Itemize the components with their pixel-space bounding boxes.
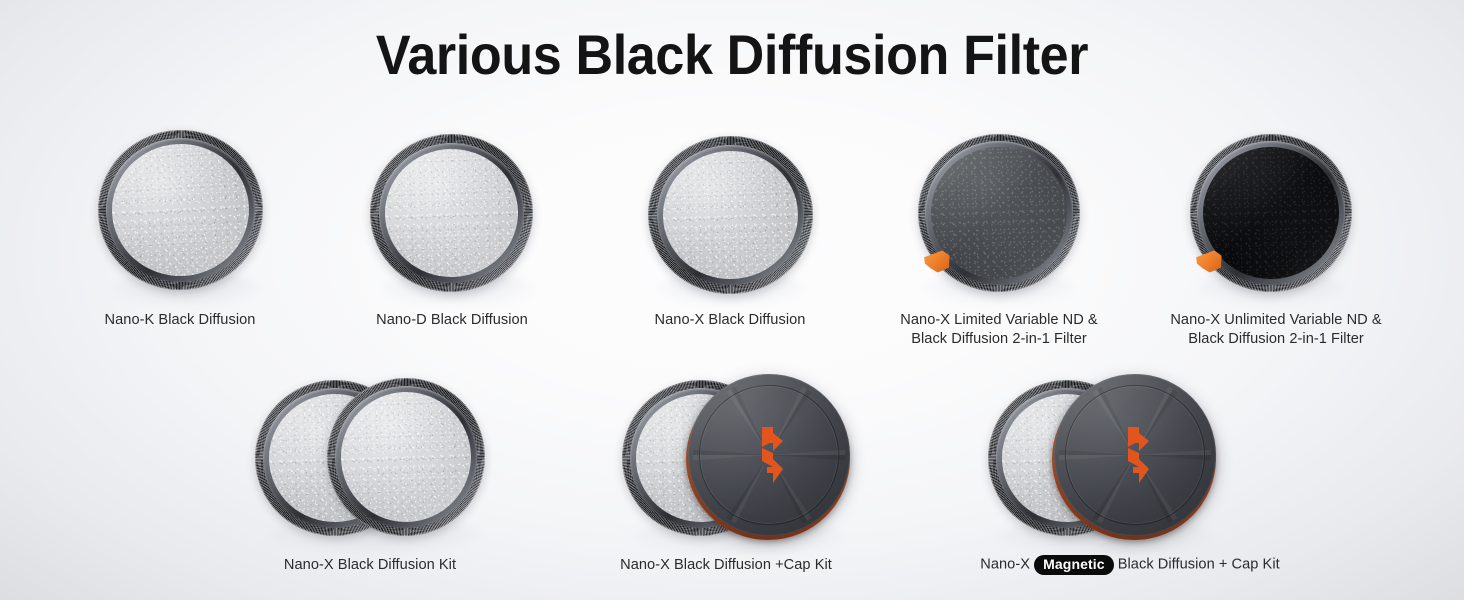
- product-label-nano-x-kit: Nano-X Black Diffusion Kit: [245, 556, 495, 575]
- label-suffix: Black Diffusion + Cap Kit: [1114, 557, 1280, 573]
- product-nano-k-black-diffusion[interactable]: [94, 126, 267, 294]
- kf-logo: [1115, 427, 1155, 483]
- magnetic-badge: Magnetic: [1034, 555, 1113, 575]
- lens-cap[interactable]: [1054, 374, 1216, 536]
- product-label-limited-nd-line1: Nano-X Limited Variable ND &: [862, 311, 1136, 330]
- row2-labels: Nano-X Black Diffusion Kit Nano-X Black …: [0, 556, 1464, 584]
- product-label-nano-x-magnetic-cap-kit: Nano-X Magnetic Black Diffusion + Cap Ki…: [940, 554, 1320, 575]
- product-nano-x-black-diffusion-cap-kit[interactable]: [622, 374, 850, 540]
- product-label-limited-nd-line2: Black Diffusion 2-in-1 Filter: [862, 330, 1136, 349]
- product-label-nano-x: Nano-X Black Diffusion: [605, 311, 855, 330]
- label-prefix: Nano-X: [980, 557, 1034, 573]
- row1-labels: Nano-K Black Diffusion Nano-D Black Diff…: [0, 311, 1464, 357]
- product-label-nano-x-cap-kit: Nano-X Black Diffusion +Cap Kit: [590, 556, 862, 575]
- product-nano-x-magnetic-black-diffusion-cap-kit[interactable]: [988, 374, 1216, 540]
- product-label-unlimited-nd-line2: Black Diffusion 2-in-1 Filter: [1134, 330, 1418, 349]
- product-label-nano-k: Nano-K Black Diffusion: [55, 311, 305, 330]
- product-showcase-banner: Various Black Diffusion Filter: [0, 0, 1464, 600]
- product-label-unlimited-nd-line1: Nano-X Unlimited Variable ND &: [1134, 311, 1418, 330]
- product-nano-x-black-diffusion[interactable]: [645, 133, 815, 297]
- product-nano-x-black-diffusion-kit[interactable]: [255, 378, 485, 538]
- kf-logo: [749, 427, 789, 483]
- product-nano-d-black-diffusion[interactable]: [367, 131, 535, 295]
- lens-cap[interactable]: [688, 374, 850, 536]
- page-title: Various Black Diffusion Filter: [51, 22, 1413, 88]
- product-label-nano-d: Nano-D Black Diffusion: [327, 311, 577, 330]
